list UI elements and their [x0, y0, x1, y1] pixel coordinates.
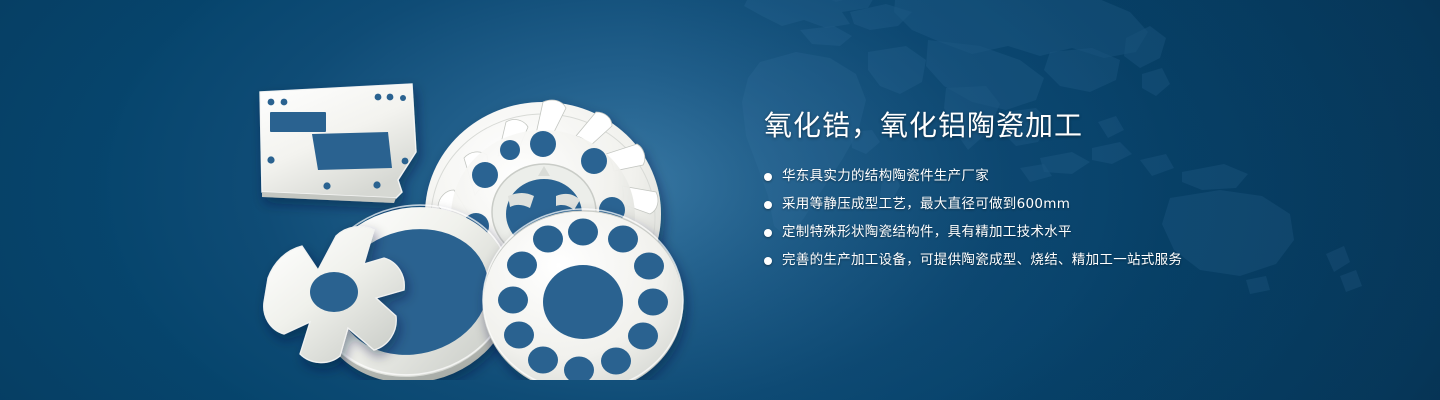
- ceramic-parts-photo: [200, 40, 700, 380]
- feature-list: 华东具实力的结构陶瓷件生产厂家 采用等静压成型工艺，最大直径可做到600mm 定…: [764, 166, 1384, 271]
- hero-banner: 氧化锆，氧化铝陶瓷加工 华东具实力的结构陶瓷件生产厂家 采用等静压成型工艺，最大…: [0, 0, 1440, 400]
- list-item: 采用等静压成型工艺，最大直径可做到600mm: [764, 194, 1384, 215]
- bullet-dot-icon: [764, 201, 772, 209]
- bullet-dot-icon: [764, 229, 772, 237]
- list-item-label: 华东具实力的结构陶瓷件生产厂家: [782, 166, 989, 187]
- bullet-dot-icon: [764, 173, 772, 181]
- list-item-label: 完善的生产加工设备，可提供陶瓷成型、烧结、精加工一站式服务: [782, 250, 1182, 271]
- list-item: 完善的生产加工设备，可提供陶瓷成型、烧结、精加工一站式服务: [764, 250, 1384, 271]
- list-item-label: 采用等静压成型工艺，最大直径可做到600mm: [782, 194, 1070, 215]
- list-item-label: 定制特殊形状陶瓷结构件，具有精加工技术水平: [782, 222, 1072, 243]
- banner-copy: 氧化锆，氧化铝陶瓷加工 华东具实力的结构陶瓷件生产厂家 采用等静压成型工艺，最大…: [764, 108, 1384, 278]
- bullet-dot-icon: [764, 257, 772, 265]
- page-title: 氧化锆，氧化铝陶瓷加工: [764, 108, 1384, 144]
- ceramic-hole-disc: [483, 209, 683, 380]
- list-item: 华东具实力的结构陶瓷件生产厂家: [764, 166, 1384, 187]
- ceramic-flat-plate: [260, 84, 416, 203]
- list-item: 定制特殊形状陶瓷结构件，具有精加工技术水平: [764, 222, 1384, 243]
